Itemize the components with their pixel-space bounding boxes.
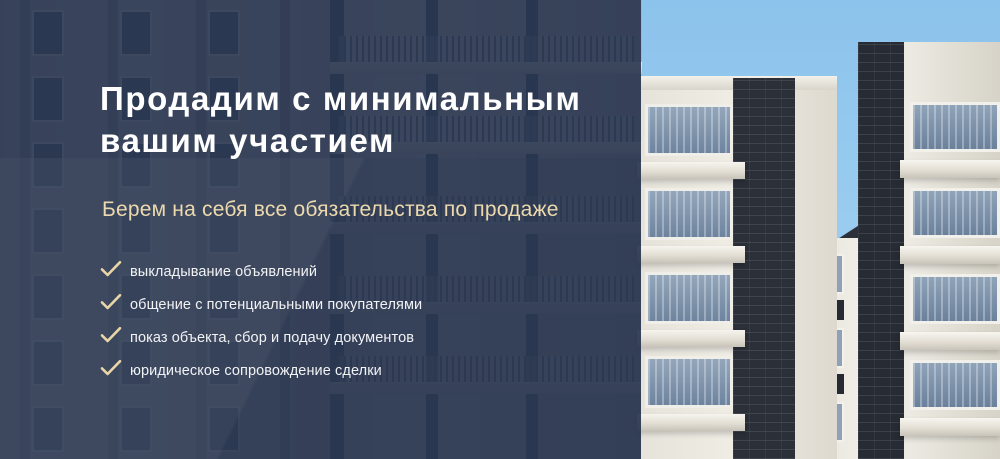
page-title: Продадим с минимальным вашим участием — [100, 78, 620, 162]
banner-content: Продадим с минимальным вашим участием Бе… — [0, 0, 641, 459]
check-icon — [100, 359, 130, 382]
check-icon — [100, 260, 130, 283]
subtitle: Берем на себя все обязательства по прода… — [102, 196, 622, 224]
list-item: выкладывание объявлений — [100, 255, 620, 288]
list-item-label: показ объекта, сбор и подачу документов — [130, 329, 414, 347]
benefits-list: выкладывание объявлений общение с потенц… — [100, 255, 620, 387]
brick-column-right — [858, 42, 904, 459]
list-item: общение с потенциальными покупателями — [100, 288, 620, 321]
list-item-label: общение с потенциальными покупателями — [130, 296, 422, 314]
list-item: юридическое сопровождение сделки — [100, 354, 620, 387]
check-icon — [100, 326, 130, 349]
check-icon — [100, 293, 130, 316]
brick-column — [733, 78, 795, 459]
list-item: показ объекта, сбор и подачу документов — [100, 321, 620, 354]
list-item-label: юридическое сопровождение сделки — [130, 362, 382, 380]
promo-banner: Продадим с минимальным вашим участием Бе… — [0, 0, 1000, 459]
list-item-label: выкладывание объявлений — [130, 263, 317, 281]
front-tower-left — [641, 88, 837, 459]
front-tower-right — [858, 42, 1000, 459]
